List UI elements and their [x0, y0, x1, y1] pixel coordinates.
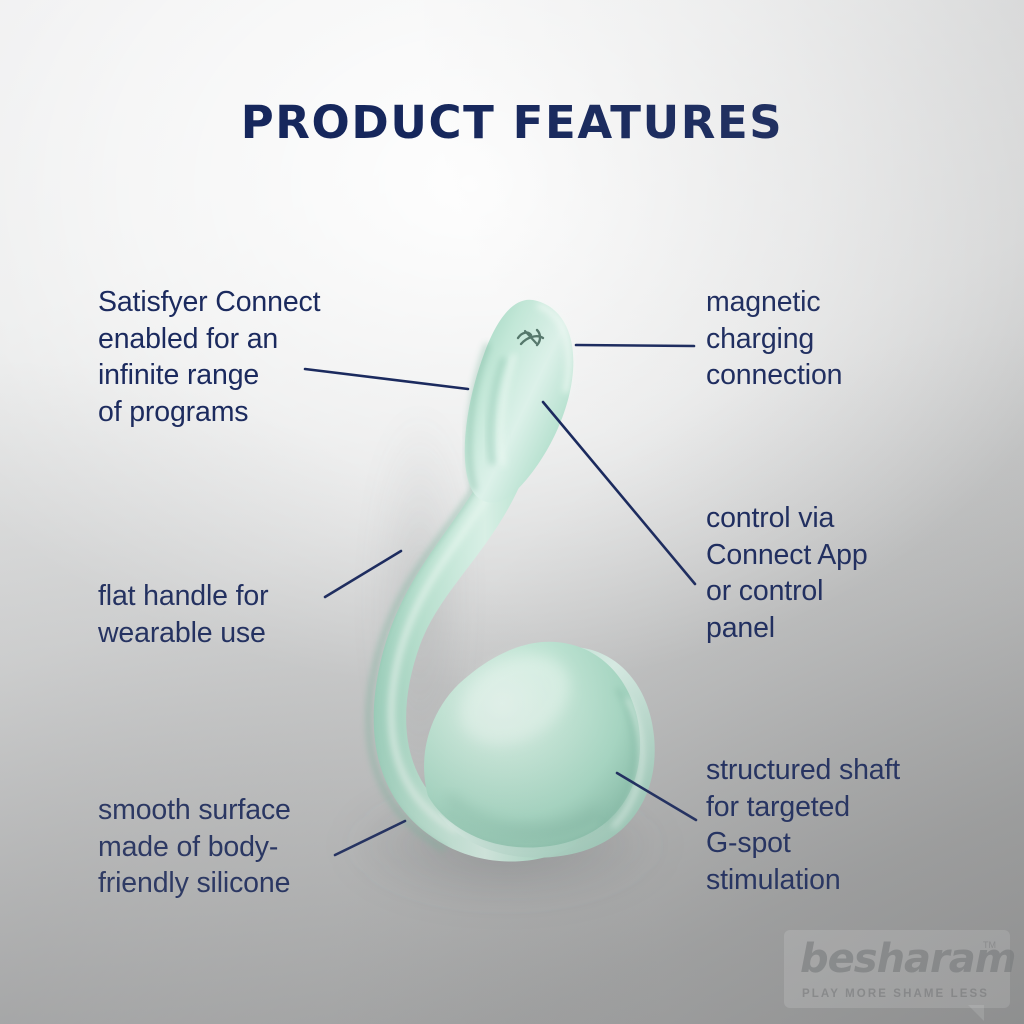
- callout-satisfyer-connect: Satisfyer Connect enabled for an infinit…: [98, 284, 398, 430]
- besharam-watermark: besharam TM PLAY MORE SHAME LESS: [784, 930, 1010, 1008]
- watermark-tagline: PLAY MORE SHAME LESS: [802, 988, 989, 1000]
- callout-connect-app: control via Connect App or control panel: [706, 500, 976, 646]
- callout-flat-handle: flat handle for wearable use: [98, 578, 388, 651]
- callout-magnetic-charging: magnetic charging connection: [706, 284, 976, 394]
- watermark-trademark-icon: TM: [983, 940, 996, 950]
- product-features-infographic: PRODUCT FEATURES: [0, 0, 1024, 1024]
- callout-smooth-surface: smooth surface made of body- friendly si…: [98, 792, 398, 902]
- callout-structured-shaft: structured shaft for targeted G-spot sti…: [706, 752, 986, 898]
- product-handle: [465, 300, 574, 503]
